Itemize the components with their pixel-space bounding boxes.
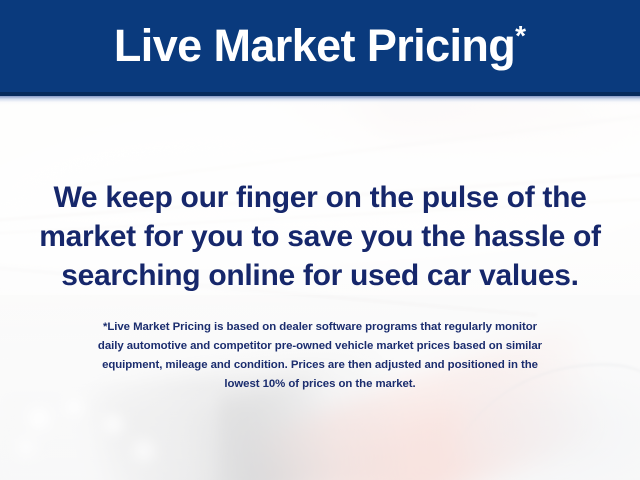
disclaimer-line: *Live Market Pricing is based on dealer … [0, 318, 640, 337]
header-band: Live Market Pricing* [0, 0, 640, 94]
disclaimer-line: daily automotive and competitor pre-owne… [0, 337, 640, 356]
page-title: Live Market Pricing* [114, 23, 526, 68]
disclaimer-line: lowest 10% of prices on the market. [0, 375, 640, 394]
live-market-pricing-banner: Live Market Pricing* We keep our finger … [0, 0, 640, 480]
headline-line: market for you to save you the hassle of [0, 217, 640, 256]
disclaimer-text: *Live Market Pricing is based on dealer … [0, 318, 640, 394]
disclaimer-line: equipment, mileage and condition. Prices… [0, 356, 640, 375]
header-gradient-fade [0, 96, 640, 105]
headline: We keep our finger on the pulse of the m… [0, 178, 640, 295]
page-title-asterisk: * [515, 20, 526, 51]
headline-line: searching online for used car values. [0, 256, 640, 295]
page-title-text: Live Market Pricing [114, 20, 515, 71]
headline-line: We keep our finger on the pulse of the [0, 178, 640, 217]
